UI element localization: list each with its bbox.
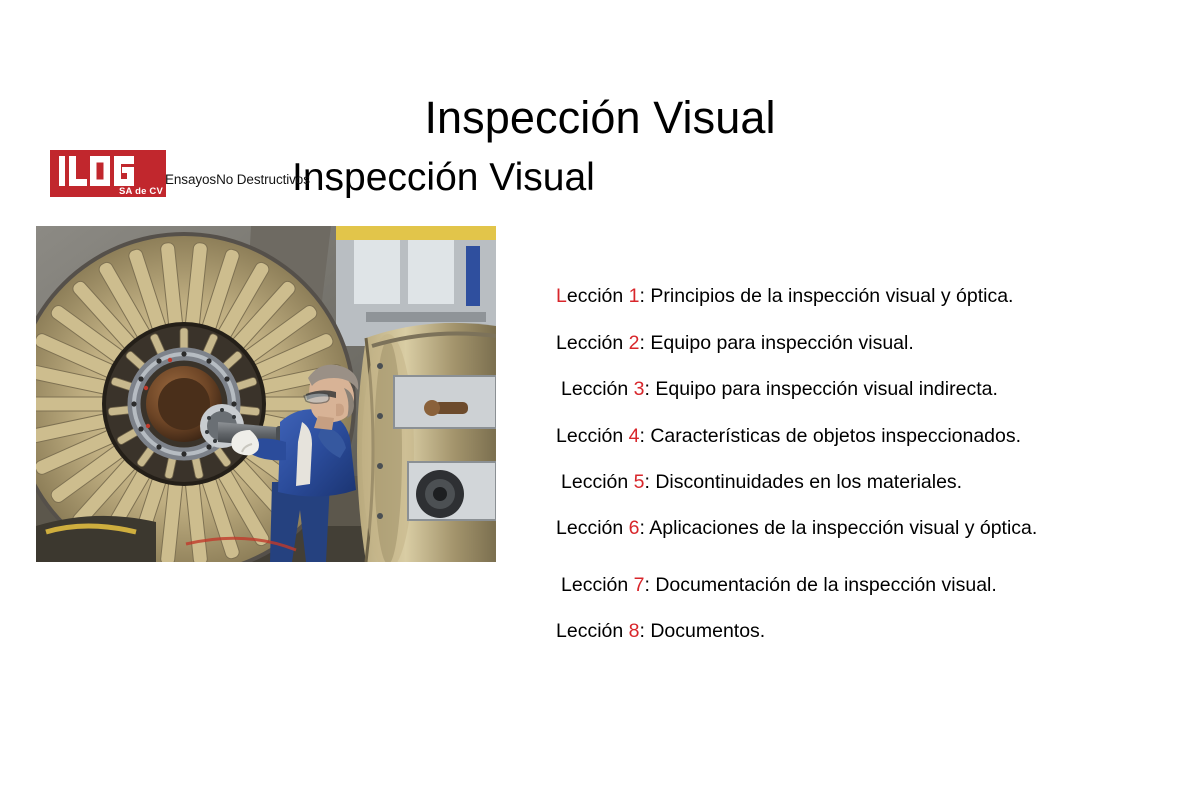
lesson-label: Lección <box>556 425 623 447</box>
lesson-text: Características de objetos inspeccionado… <box>650 425 1021 447</box>
lesson-separator: : <box>645 378 656 400</box>
lesson-text: Documentación de la inspección visual. <box>655 574 996 596</box>
list-item: Lección 8: Documentos. <box>556 622 765 642</box>
list-item: Lección 6: Aplicaciones de la inspección… <box>556 519 1037 539</box>
ilog-wordmark-icon <box>58 154 136 188</box>
lesson-separator: : <box>645 471 656 493</box>
list-item: Lección 4: Características de objetos in… <box>556 427 1021 447</box>
lesson-number: 4 <box>629 425 640 447</box>
lesson-separator: : <box>640 425 651 447</box>
lesson-number: 8 <box>629 620 640 642</box>
list-item: Lección 3: Equipo para inspección visual… <box>561 380 998 400</box>
list-item: Lección 1: Principios de la inspección v… <box>556 287 1013 307</box>
lesson-number: 7 <box>634 574 645 596</box>
list-item: Lección 5: Discontinuidades en los mater… <box>561 473 962 493</box>
lesson-number: 6 <box>629 517 640 539</box>
lesson-separator: : <box>645 574 656 596</box>
list-item: Lección 7: Documentación de la inspecció… <box>561 576 997 596</box>
lesson-text: Equipo para inspección visual indirecta. <box>655 378 998 400</box>
turbine-inspection-illustration <box>36 226 496 562</box>
lesson-separator: : <box>640 620 651 642</box>
lesson-number: 2 <box>629 332 640 354</box>
logo-legal-suffix: SA de CV <box>119 187 163 197</box>
lesson-separator: : <box>640 285 651 307</box>
lesson-label: Lección <box>556 517 623 539</box>
lesson-label: Lección <box>561 574 628 596</box>
page-subtitle: Inspección Visual <box>292 158 595 199</box>
lesson-label-initial: L <box>556 285 567 307</box>
lesson-number: 5 <box>634 471 645 493</box>
lesson-text: Equipo para inspección visual. <box>650 332 913 354</box>
list-item: Lección 2: Equipo para inspección visual… <box>556 334 914 354</box>
company-logo: SA de CV <box>50 150 166 197</box>
lesson-text: Discontinuidades en los materiales. <box>655 471 962 493</box>
lesson-separator: : <box>640 517 650 539</box>
lesson-number: 3 <box>634 378 645 400</box>
lesson-label: Lección <box>556 620 623 642</box>
slide-root: Inspección Visual Inspección Visual SA d… <box>0 0 1200 800</box>
page-title: Inspección Visual <box>0 94 1200 141</box>
lesson-separator: : <box>640 332 651 354</box>
lesson-number: 1 <box>629 285 640 307</box>
lesson-text: Aplicaciones de la inspección visual y ó… <box>649 517 1037 539</box>
turbine-inspection-photo <box>36 226 496 562</box>
lesson-label: Lección <box>561 471 628 493</box>
lesson-text: Documentos. <box>650 620 765 642</box>
lesson-label: Lección <box>561 378 628 400</box>
lesson-text: Principios de la inspección visual y ópt… <box>650 285 1013 307</box>
logo-tagline: EnsayosNo Destructivos <box>165 172 310 187</box>
lesson-label-rest: ección <box>567 285 629 307</box>
lesson-label: Lección <box>556 332 623 354</box>
